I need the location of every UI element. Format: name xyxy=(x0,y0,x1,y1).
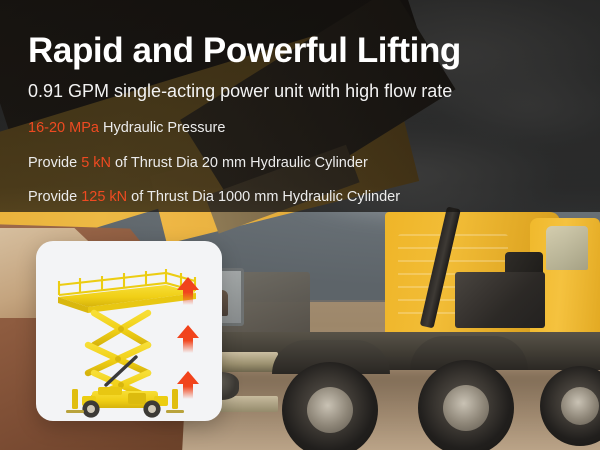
spec-accent: 16-20 MPa xyxy=(28,120,99,136)
up-arrow-middle xyxy=(177,325,199,353)
spec-rest: of Thrust Dia 1000 mm Hydraulic Cylinder xyxy=(127,189,400,205)
page-subtitle: 0.91 GPM single-acting power unit with h… xyxy=(28,80,568,103)
cab-window xyxy=(546,226,588,270)
wheel-hub xyxy=(561,387,599,425)
wheel-hub xyxy=(307,387,353,433)
spec-item-thrust-20mm: Provide 5 kN of Thrust Dia 20 mm Hydraul… xyxy=(28,154,568,173)
scissor-arms xyxy=(88,313,148,397)
up-arrow-bottom xyxy=(177,371,199,399)
copy-block: Rapid and Powerful Lifting 0.91 GPM sing… xyxy=(28,30,568,207)
spec-lead: Provide xyxy=(28,189,81,205)
spec-item-thrust-1000mm: Provide 125 kN of Thrust Dia 1000 mm Hyd… xyxy=(28,188,568,207)
promo-banner: Rapid and Powerful Lifting 0.91 GPM sing… xyxy=(0,0,600,450)
spec-item-pressure: 16-20 MPa Hydraulic Pressure xyxy=(28,119,568,138)
truck-wheel xyxy=(282,362,378,450)
page-title: Rapid and Powerful Lifting xyxy=(28,30,568,71)
lift-platform xyxy=(58,285,196,313)
spec-rest: of Thrust Dia 20 mm Hydraulic Cylinder xyxy=(111,155,368,171)
product-card[interactable] xyxy=(36,241,222,421)
spec-lead: Provide xyxy=(28,155,81,171)
truck-wheel xyxy=(418,360,514,450)
spec-rest: Hydraulic Pressure xyxy=(99,120,226,136)
hydraulic-unit-box xyxy=(455,272,545,328)
spec-accent: 125 kN xyxy=(81,189,127,205)
scissor-lift-illustration xyxy=(36,241,222,421)
spec-list: 16-20 MPa Hydraulic Pressure Provide 5 k… xyxy=(28,119,568,208)
spec-accent: 5 kN xyxy=(81,155,111,171)
wheel-hub xyxy=(443,385,489,431)
